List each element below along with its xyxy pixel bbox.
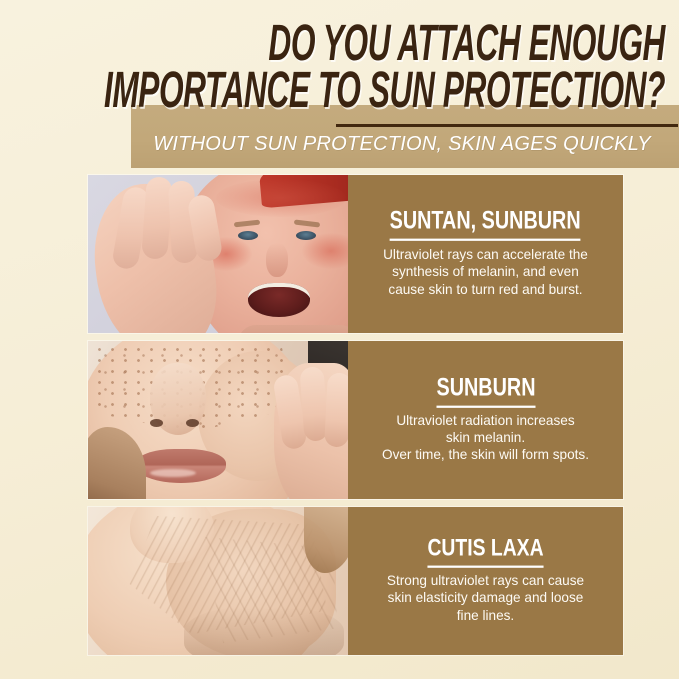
card-photo-suntan-sunburn xyxy=(88,175,348,333)
photo-finger xyxy=(324,372,348,447)
card-body-text: Strong ultraviolet rays can cause skin e… xyxy=(387,572,584,623)
photo-eye-left xyxy=(238,231,258,240)
infographic-poster: WITHOUT SUN PROTECTION, SKIN AGES QUICKL… xyxy=(0,0,679,679)
card-title: SUNBURN xyxy=(436,373,535,408)
card-title: CUTIS LAXA xyxy=(427,535,543,569)
page-title: DO YOU ATTACH ENOUGH IMPORTANCE TO SUN P… xyxy=(0,26,679,107)
subtitle-text: WITHOUT SUN PROTECTION, SKIN AGES QUICKL… xyxy=(136,132,673,156)
card-body-text: Ultraviolet radiation increases skin mel… xyxy=(382,412,589,463)
subtitle-divider-rule xyxy=(336,124,678,127)
headline-line-2: IMPORTANCE TO SUN PROTECTION? xyxy=(80,66,665,114)
photo-hair-shape xyxy=(304,507,348,573)
photo-forehead-redness xyxy=(216,179,346,217)
card-text-panel: SUNBURN Ultraviolet radiation increases … xyxy=(348,341,623,499)
photo-nostril-right xyxy=(186,419,199,427)
info-card-cutis-laxa: CUTIS LAXA Strong ultraviolet rays can c… xyxy=(88,507,623,655)
photo-nostril-left xyxy=(150,419,163,427)
info-card-sunburn: SUNBURN Ultraviolet radiation increases … xyxy=(88,341,623,499)
card-title: SUNTAN, SUNBURN xyxy=(390,206,581,241)
card-photo-sunburn xyxy=(88,341,348,499)
card-text-panel: CUTIS LAXA Strong ultraviolet rays can c… xyxy=(348,507,623,655)
card-text-panel: SUNTAN, SUNBURN Ultraviolet rays can acc… xyxy=(348,175,623,333)
photo-neck-shape xyxy=(238,325,348,333)
info-card-suntan-sunburn: SUNTAN, SUNBURN Ultraviolet rays can acc… xyxy=(88,175,623,333)
photo-lips-shape xyxy=(136,449,226,483)
card-photo-cutis-laxa xyxy=(88,507,348,655)
card-body-text: Ultraviolet rays can accelerate the synt… xyxy=(383,246,588,297)
photo-nose-shape xyxy=(266,243,288,277)
photo-open-mouth-shape xyxy=(248,283,310,317)
photo-lip-highlight xyxy=(150,469,196,477)
